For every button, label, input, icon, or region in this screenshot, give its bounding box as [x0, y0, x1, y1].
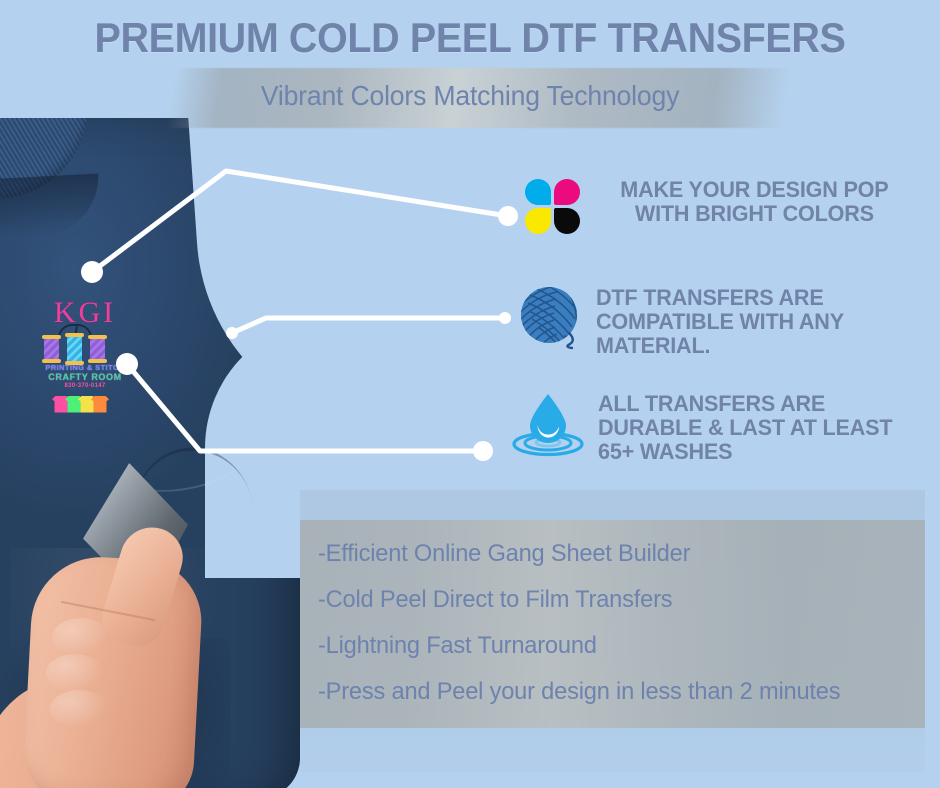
spool-icon: [67, 336, 82, 362]
cmyk-color-dots-icon: [524, 178, 582, 236]
feature-1-label: MAKE YOUR DESIGN POP WITH BRIGHT COLORS: [596, 178, 913, 226]
logo-brand-text: KGI: [24, 298, 146, 328]
water-drop-icon: [512, 392, 584, 463]
knuckle: [50, 690, 108, 728]
tshirt-icon: [91, 396, 109, 413]
yarn-ball-icon: [520, 286, 582, 355]
feature-wash-durability: ALL TRANSFERS ARE DURABLE & LAST AT LEAS…: [512, 392, 928, 464]
feature-2-label: DTF TRANSFERS ARE COMPATIBLE WITH ANY MA…: [596, 286, 903, 358]
logo-phone-number: 830-370-0147: [24, 383, 146, 389]
benefit-item: -Efficient Online Gang Sheet Builder: [318, 534, 916, 580]
feature-material-compatibility: DTF TRANSFERS ARE COMPATIBLE WITH ANY MA…: [520, 286, 916, 358]
shirt-printed-logo: KGI PRINTING & STITCH CRAFTY ROOM 830-37…: [24, 298, 146, 398]
benefits-list: -Efficient Online Gang Sheet Builder -Co…: [300, 520, 925, 718]
thread-spools-graphic: [24, 330, 146, 364]
benefit-item: -Lightning Fast Turnaround: [318, 626, 916, 672]
cmyk-black-petal: [554, 208, 580, 234]
cmyk-cyan-petal: [525, 179, 551, 205]
knuckle: [52, 618, 110, 656]
feature-3-label: ALL TRANSFERS ARE DURABLE & LAST AT LEAS…: [598, 392, 915, 464]
connector-dot-feature-2: [499, 312, 511, 324]
product-photo: [0, 118, 330, 788]
connector-dot-feature-1: [498, 206, 518, 226]
page-title: PREMIUM COLD PEEL DTF TRANSFERS: [28, 14, 912, 62]
cmyk-magenta-petal: [554, 179, 580, 205]
feature-make-design-pop: MAKE YOUR DESIGN POP WITH BRIGHT COLORS: [524, 178, 926, 236]
knuckle: [46, 654, 104, 692]
tshirt-icons-row: [24, 392, 146, 416]
logo-tagline-1: PRINTING & STITCH: [24, 364, 146, 372]
connector-dot-feature-3: [473, 441, 493, 461]
page-subtitle: Vibrant Colors Matching Technology: [24, 80, 917, 112]
spool-icon: [90, 338, 105, 360]
benefit-item: -Press and Peel your design in less than…: [318, 672, 916, 718]
spool-icon: [44, 338, 59, 360]
infographic-canvas: KGI PRINTING & STITCH CRAFTY ROOM 830-37…: [0, 0, 940, 788]
benefits-panel: -Efficient Online Gang Sheet Builder -Co…: [300, 520, 925, 728]
logo-tagline-2: CRAFTY ROOM: [24, 373, 146, 382]
benefit-item: -Cold Peel Direct to Film Transfers: [318, 580, 916, 626]
cmyk-yellow-petal: [525, 208, 551, 234]
